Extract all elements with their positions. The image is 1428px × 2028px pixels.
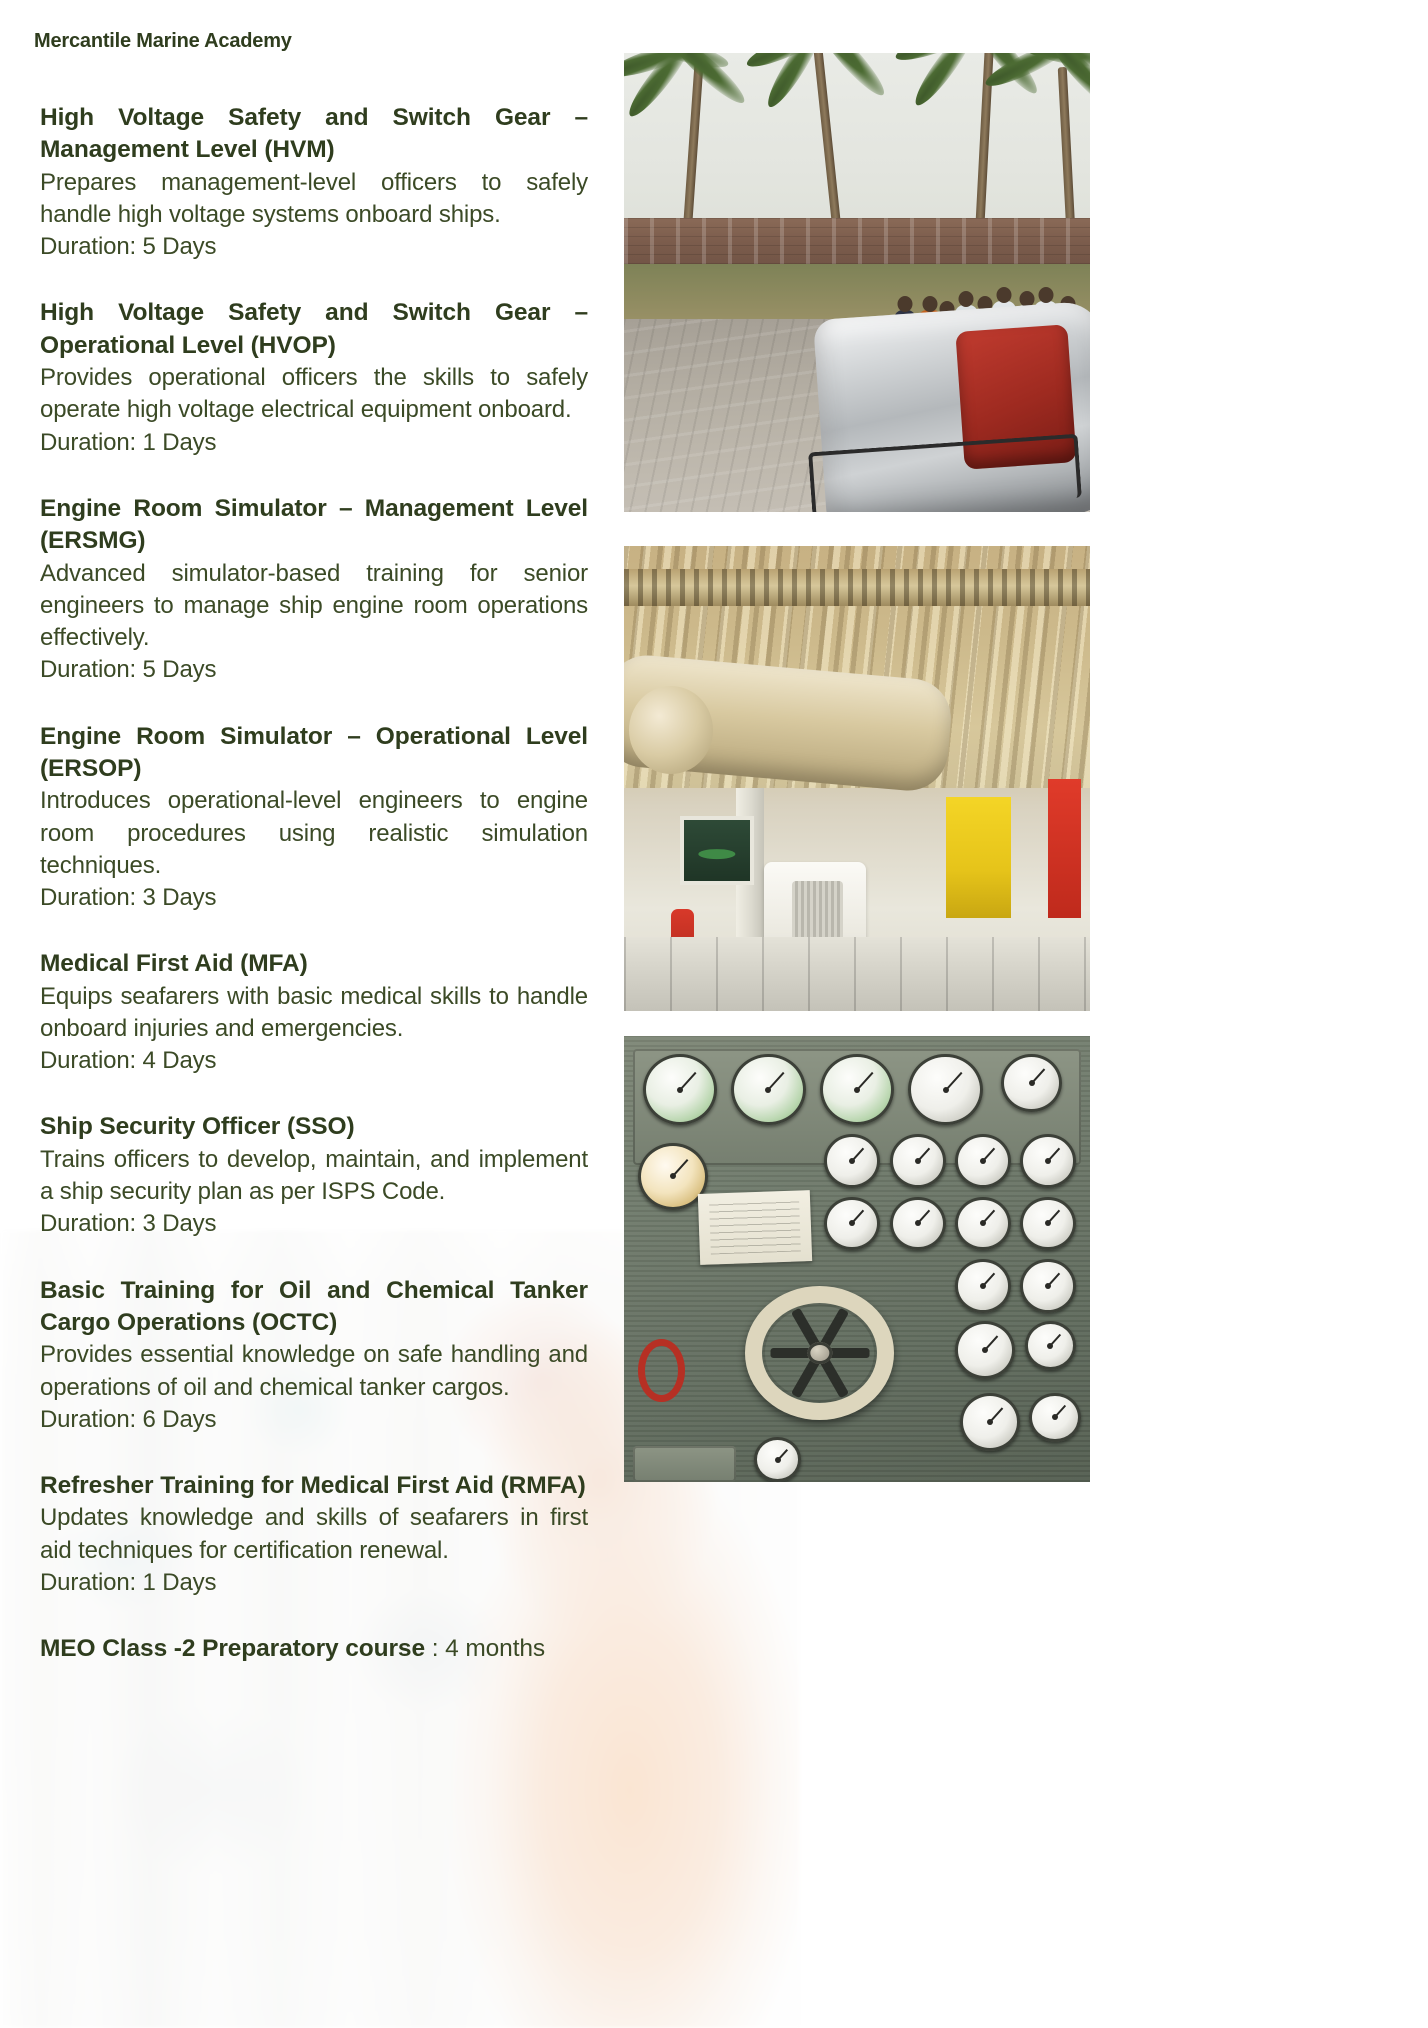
pressure-gauge xyxy=(908,1054,983,1125)
photo-ship-engine-room-corridor xyxy=(624,546,1090,1011)
photo-trainees-parade-with-portable-pump xyxy=(624,53,1090,512)
course-description: Introduces operational-level engineers t… xyxy=(40,785,588,882)
photo-2-scene xyxy=(624,546,1090,1011)
logbook-clipboard xyxy=(697,1190,811,1265)
course-title: Basic Training for Oil and Chemical Tank… xyxy=(40,1275,588,1340)
course-item-meo-class-2: MEO Class -2 Preparatory course : 4 mont… xyxy=(40,1633,588,1665)
pressure-gauge xyxy=(1020,1259,1076,1313)
course-duration: Duration: 5 Days xyxy=(40,654,588,686)
pressure-gauge xyxy=(731,1054,806,1125)
photo-1-scene xyxy=(624,53,1090,512)
course-item: High Voltage Safety and Switch Gear – Op… xyxy=(40,297,588,458)
course-duration: Duration: 5 Days xyxy=(40,231,588,263)
course-description: Prepares management-level officers to sa… xyxy=(40,167,588,232)
course-description: Advanced simulator-based training for se… xyxy=(40,558,588,655)
course-title: Ship Security Officer (SSO) xyxy=(40,1111,588,1143)
course-duration: Duration: 4 Days xyxy=(40,1045,588,1077)
course-item: Engine Room Simulator – Operational Leve… xyxy=(40,721,588,915)
red-cabinet xyxy=(1048,779,1081,919)
course-title: Engine Room Simulator – Management Level… xyxy=(40,493,588,558)
course-description: Equips seafarers with basic medical skil… xyxy=(40,981,588,1046)
course-title: High Voltage Safety and Switch Gear – Ma… xyxy=(40,102,588,167)
meo-course-duration: : 4 months xyxy=(432,1635,545,1662)
photo-3-scene xyxy=(624,1036,1090,1482)
course-item: High Voltage Safety and Switch Gear – Ma… xyxy=(40,102,588,263)
perforated-ceiling-beam xyxy=(624,569,1090,606)
pressure-gauge xyxy=(643,1054,718,1125)
course-item: Ship Security Officer (SSO) Trains offic… xyxy=(40,1111,588,1240)
meo-course-title: MEO Class -2 Preparatory course xyxy=(40,1635,432,1662)
pressure-gauge xyxy=(890,1197,946,1251)
pressure-gauge xyxy=(955,1134,1011,1188)
course-duration: Duration: 1 Days xyxy=(40,1567,588,1599)
pipe-flange xyxy=(629,686,713,774)
pressure-gauge xyxy=(1020,1197,1076,1251)
green-valve-panel xyxy=(680,816,755,886)
pressure-gauge xyxy=(960,1393,1021,1451)
course-duration: Duration: 1 Days xyxy=(40,427,588,459)
photo-engine-control-gauge-panel xyxy=(624,1036,1090,1482)
pressure-gauge xyxy=(955,1197,1011,1251)
yellow-cabinet xyxy=(946,797,1011,918)
pressure-gauge xyxy=(754,1437,801,1482)
course-duration: Duration: 6 Days xyxy=(40,1404,588,1436)
course-duration: Duration: 3 Days xyxy=(40,1208,588,1240)
electric-motor xyxy=(792,881,843,941)
course-description: Provides essential knowledge on safe han… xyxy=(40,1339,588,1404)
lower-fitting-plate xyxy=(633,1446,736,1482)
manual-control-handwheel xyxy=(745,1286,894,1420)
course-title: High Voltage Safety and Switch Gear – Op… xyxy=(40,297,588,362)
course-title: Medical First Aid (MFA) xyxy=(40,948,588,980)
course-item: Basic Training for Oil and Chemical Tank… xyxy=(40,1275,588,1436)
red-valve-handwheel xyxy=(638,1339,685,1401)
pressure-gauge xyxy=(955,1259,1011,1313)
pressure-gauge xyxy=(1020,1134,1076,1188)
document-page: Mercantile Marine Academy High Voltage S… xyxy=(0,0,1428,2028)
course-title: Refresher Training for Medical First Aid… xyxy=(40,1470,588,1502)
course-item: Engine Room Simulator – Management Level… xyxy=(40,493,588,687)
course-list: High Voltage Safety and Switch Gear – Ma… xyxy=(40,102,588,1666)
pressure-gauge xyxy=(1029,1393,1080,1442)
course-duration: Duration: 3 Days xyxy=(40,882,588,914)
pressure-gauge xyxy=(890,1134,946,1188)
course-item: Refresher Training for Medical First Aid… xyxy=(40,1470,588,1599)
course-item: Medical First Aid (MFA) Equips seafarers… xyxy=(40,948,588,1077)
pressure-gauge xyxy=(1001,1054,1062,1112)
course-description: Trains officers to develop, maintain, an… xyxy=(40,1144,588,1209)
pressure-gauge xyxy=(824,1197,880,1251)
pressure-gauge xyxy=(824,1134,880,1188)
pressure-gauge xyxy=(820,1054,895,1125)
course-description: Provides operational officers the skills… xyxy=(40,362,588,427)
course-description: Updates knowledge and skills of seafarer… xyxy=(40,1502,588,1567)
engine-room-floor xyxy=(624,937,1090,1011)
page-title: Mercantile Marine Academy xyxy=(34,30,292,53)
course-title: Engine Room Simulator – Operational Leve… xyxy=(40,721,588,786)
